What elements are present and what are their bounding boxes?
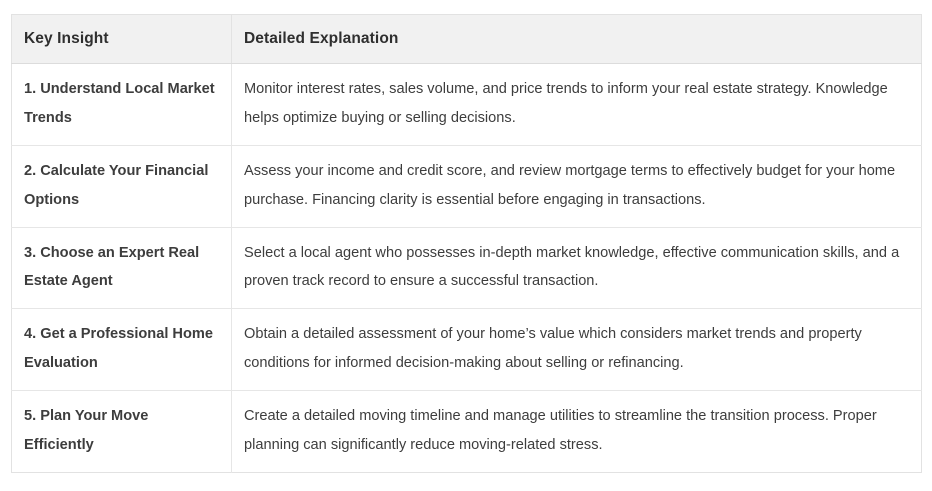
cell-key-insight: 1. Understand Local Market Trends	[12, 64, 232, 146]
table-row: 1. Understand Local Market Trends Monito…	[12, 64, 922, 146]
table-row: 2. Calculate Your Financial Options Asse…	[12, 145, 922, 227]
column-header-key-insight: Key Insight	[12, 15, 232, 64]
cell-key-insight: 5. Plan Your Move Efficiently	[12, 391, 232, 473]
table-header-row: Key Insight Detailed Explanation	[12, 15, 922, 64]
cell-detailed-explanation: Obtain a detailed assessment of your hom…	[232, 309, 922, 391]
key-insights-table: Key Insight Detailed Explanation 1. Unde…	[11, 14, 922, 473]
column-header-detailed-explanation: Detailed Explanation	[232, 15, 922, 64]
table-body: 1. Understand Local Market Trends Monito…	[12, 64, 922, 473]
cell-key-insight: 4. Get a Professional Home Evaluation	[12, 309, 232, 391]
cell-key-insight: 3. Choose an Expert Real Estate Agent	[12, 227, 232, 309]
page-root: Key Insight Detailed Explanation 1. Unde…	[0, 0, 932, 491]
cell-detailed-explanation: Assess your income and credit score, and…	[232, 145, 922, 227]
table-header: Key Insight Detailed Explanation	[12, 15, 922, 64]
cell-detailed-explanation: Monitor interest rates, sales volume, an…	[232, 64, 922, 146]
table-row: 3. Choose an Expert Real Estate Agent Se…	[12, 227, 922, 309]
cell-detailed-explanation: Create a detailed moving timeline and ma…	[232, 391, 922, 473]
table-row: 5. Plan Your Move Efficiently Create a d…	[12, 391, 922, 473]
cell-detailed-explanation: Select a local agent who possesses in-de…	[232, 227, 922, 309]
table-row: 4. Get a Professional Home Evaluation Ob…	[12, 309, 922, 391]
insight-table-container: Key Insight Detailed Explanation 1. Unde…	[11, 14, 921, 473]
cell-key-insight: 2. Calculate Your Financial Options	[12, 145, 232, 227]
